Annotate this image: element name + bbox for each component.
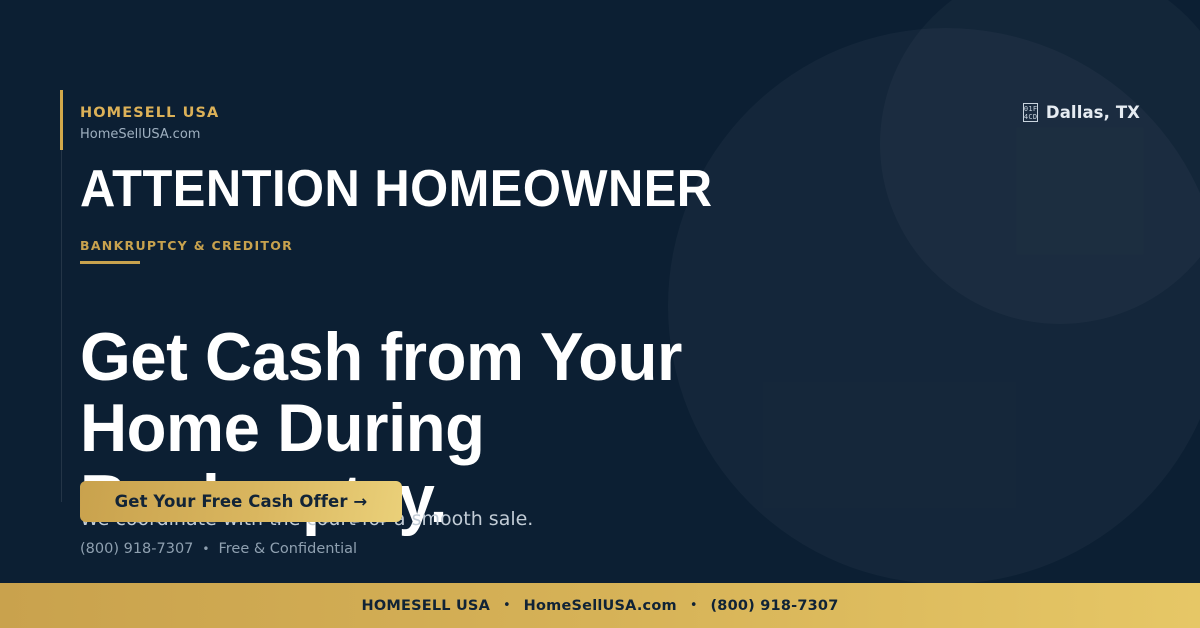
contact-separator: • (202, 543, 209, 555)
brand-name: HOMESELL USA (80, 105, 219, 122)
contact-line: (800) 918-7307 • Free & Confidential (80, 541, 357, 557)
brand-block: HOMESELL USA HomeSellUSA.com (80, 105, 219, 143)
left-rail-line (61, 90, 62, 502)
map-pin-icon: 01F 4CD (1023, 103, 1038, 122)
eyebrow-underline (80, 261, 140, 264)
contact-note: Free & Confidential (219, 541, 358, 557)
contact-phone[interactable]: (800) 918-7307 (80, 541, 193, 557)
ad-banner: HOMESELL USA HomeSellUSA.com 01F 4CD Dal… (0, 0, 1200, 628)
eyebrow-label: BANKRUPTCY & CREDITOR (80, 238, 293, 253)
attention-line: ATTENTION HOMEOWNER (80, 160, 713, 218)
location-label: Dallas, TX (1046, 103, 1140, 122)
footer-bar: HOMESELL USA • HomeSellUSA.com • (800) 9… (0, 583, 1200, 628)
map-pin-icon-codepoint-top: 01F (1024, 105, 1037, 114)
footer-separator-1: • (503, 599, 511, 612)
footer-phone[interactable]: (800) 918-7307 (710, 598, 838, 614)
brand-website: HomeSellUSA.com (80, 127, 219, 143)
left-rail-accent (60, 90, 63, 150)
get-free-cash-offer-button[interactable]: Get Your Free Cash Offer → (80, 481, 402, 522)
map-pin-icon-codepoint-bottom: 4CD (1024, 113, 1037, 122)
location-badge: 01F 4CD Dallas, TX (1023, 103, 1140, 122)
footer-brand: HOMESELL USA (361, 598, 490, 614)
footer-separator-2: • (690, 599, 698, 612)
background-circle-small (880, 0, 1200, 324)
footer-website[interactable]: HomeSellUSA.com (524, 598, 677, 614)
